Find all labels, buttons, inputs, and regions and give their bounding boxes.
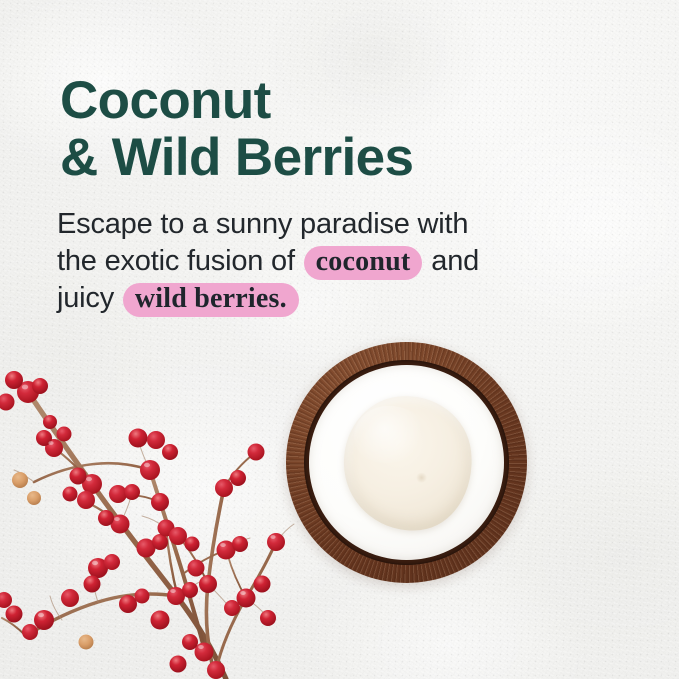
description-line-3: juicy wild berries.	[57, 280, 617, 317]
description-line-2: the exotic fusion of coconut and	[57, 243, 617, 280]
description-line-1: Escape to a sunny paradise with	[57, 206, 617, 243]
description-line-3-prefix: juicy	[57, 282, 122, 314]
description-line-2-suffix: and	[423, 245, 479, 277]
highlight-coconut: coconut	[304, 246, 423, 280]
description-line-2-prefix: the exotic fusion of	[57, 245, 303, 277]
headline-line-1: Coconut	[60, 72, 620, 129]
product-feature-banner: Coconut & Wild Berries Escape to a sunny…	[0, 0, 679, 679]
coconut-cavity-dimple	[415, 473, 427, 484]
berry-branch-illustration	[0, 352, 300, 679]
highlight-wild-berries: wild berries.	[123, 283, 299, 317]
description-text: Escape to a sunny paradise with the exot…	[57, 206, 617, 317]
headline-line-2: & Wild Berries	[60, 129, 620, 186]
coconut-illustration	[286, 342, 527, 583]
page-title: Coconut & Wild Berries	[60, 72, 620, 186]
